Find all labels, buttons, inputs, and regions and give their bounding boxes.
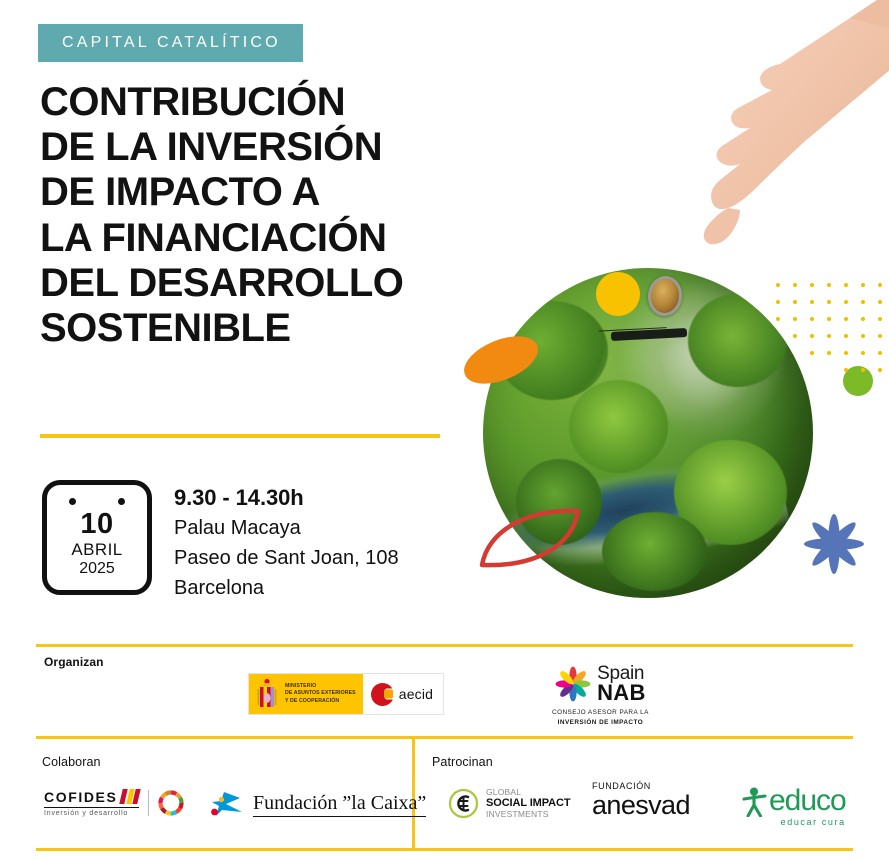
yellow-dot-grid-decoration — [776, 283, 882, 378]
gsi-mark-icon — [448, 788, 479, 819]
organizan-label: Organizan — [44, 655, 104, 669]
event-time: 9.30 - 14.30h — [174, 482, 399, 513]
globe-piggy-bank-image — [483, 268, 813, 598]
calendar-hole-icon — [118, 498, 125, 505]
spain-nab-flower-icon — [555, 666, 591, 702]
title-underline-rule — [40, 434, 440, 438]
globe-canopy — [674, 440, 786, 546]
venue-city: Barcelona — [174, 573, 399, 603]
cofides-word: COFIDES — [44, 790, 117, 804]
fundacion-la-caixa-logo: Fundación ”la Caixa” — [210, 790, 426, 818]
globe-river — [499, 425, 798, 598]
global-social-impact-logo: GLOBAL SOCIAL IMPACT INVESTMENTS — [448, 788, 570, 819]
divider-rule — [36, 736, 853, 739]
sdg-wheel-icon — [158, 790, 184, 816]
venue-info: 9.30 - 14.30h Palau Macaya Paseo de Sant… — [174, 480, 399, 603]
hand-dropping-coin-image — [654, 0, 889, 292]
gsi-wordmark: GLOBAL SOCIAL IMPACT INVESTMENTS — [486, 788, 570, 819]
title-line: DE IMPACTO A — [40, 170, 510, 215]
educo-wordmark: educo — [769, 786, 846, 816]
patrocinan-label: Patrocinan — [432, 755, 493, 769]
coin-slot-icon — [611, 328, 687, 341]
spain-nab-sub-line-2: INVERSIÓN DE IMPACTO — [552, 718, 649, 728]
title-line: CONTRIBUCIÓN — [40, 80, 510, 125]
gsi-line-1: GLOBAL — [486, 788, 570, 797]
spain-nab-subtitle: CONSEJO ASESOR PARA LA INVERSIÓN DE IMPA… — [552, 708, 649, 727]
ministry-aecid-logo: MINISTERIO DE ASUNTOS EXTERIORES Y DE CO… — [248, 673, 444, 715]
spain-flag-icon — [120, 789, 141, 804]
logo-divider — [148, 790, 149, 816]
divider-rule — [36, 848, 853, 851]
event-details: 10 ABRIL 2025 9.30 - 14.30h Palau Macaya… — [42, 480, 399, 603]
green-circle-decoration — [843, 366, 873, 396]
educo-person-icon — [742, 787, 767, 817]
venue-address: Paseo de Sant Joan, 108 — [174, 543, 399, 573]
euro-coin-icon — [646, 274, 684, 317]
ministry-line-1: MINISTERIO — [285, 683, 316, 689]
ministry-logo: MINISTERIO DE ASUNTOS EXTERIORES Y DE CO… — [249, 674, 363, 714]
gsi-line-3: INVESTMENTS — [486, 810, 570, 819]
spain-nab-wordmark: Spain NAB — [597, 664, 646, 704]
yellow-circle-decoration — [596, 272, 640, 316]
venue-name: Palau Macaya — [174, 513, 399, 543]
calendar-day: 10 — [80, 510, 113, 540]
globe-highland — [610, 268, 813, 495]
aecid-mark-icon — [371, 683, 394, 706]
ministry-line-2: DE ASUNTOS EXTERIORES — [285, 690, 356, 696]
cofides-wordmark: COFIDES Inversión y desarrollo — [44, 789, 139, 817]
gsi-line-2: SOCIAL IMPACT — [486, 797, 570, 809]
spain-coat-of-arms-icon — [254, 678, 280, 710]
la-caixa-star-icon — [210, 790, 244, 818]
globe-canopy — [569, 380, 668, 472]
spain-nab-nab-text: NAB — [597, 682, 646, 704]
red-leaf-outline-decoration — [478, 507, 582, 569]
educo-logo: educo educar cura — [742, 786, 846, 827]
educo-wordmark-stack: educo educar cura — [769, 786, 846, 827]
colaboran-label: Colaboran — [42, 755, 101, 769]
blue-star-decoration — [789, 498, 879, 590]
fundacion-anesvad-logo: FUNDACIÓN anesvad — [592, 782, 690, 819]
title-line: LA FINANCIACIÓN — [40, 216, 510, 261]
globe-canopy — [516, 459, 602, 545]
capital-catalitico-badge: CAPITAL CATALÍTICO — [38, 24, 303, 62]
calendar-hole-icon — [69, 498, 76, 505]
spain-nab-row: Spain NAB — [555, 664, 646, 704]
globe-canopy — [602, 512, 708, 591]
globe-canopy — [496, 301, 608, 400]
la-caixa-wordmark: Fundación ”la Caixa” — [253, 792, 426, 817]
ministry-line-3: Y DE COOPERACIÓN — [285, 698, 339, 704]
calendar-month: ABRIL — [71, 540, 122, 560]
calendar-year: 2025 — [79, 559, 115, 578]
educo-tagline: educar cura — [769, 818, 846, 827]
title-line: SOSTENIBLE — [40, 306, 510, 351]
page-title: CONTRIBUCIÓN DE LA INVERSIÓN DE IMPACTO … — [40, 80, 510, 351]
spain-nab-sub-line-1: CONSEJO ASESOR PARA LA — [552, 708, 649, 718]
title-line: DE LA INVERSIÓN — [40, 125, 510, 170]
aecid-logo: aecid — [363, 674, 443, 714]
title-line: DEL DESARROLLO — [40, 261, 510, 306]
anesvad-wordmark: anesvad — [592, 792, 690, 819]
globe-sphere — [483, 268, 813, 598]
calendar-card-icon: 10 ABRIL 2025 — [42, 480, 152, 595]
poster-root: CAPITAL CATALÍTICO CONTRIBUCIÓN DE LA IN… — [0, 0, 889, 859]
spain-nab-logo: Spain NAB CONSEJO ASESOR PARA LA INVERSI… — [552, 664, 649, 727]
cofides-logo: COFIDES Inversión y desarrollo — [44, 789, 184, 817]
globe-canopy — [688, 294, 787, 386]
divider-rule — [36, 644, 853, 647]
aecid-wordmark: aecid — [399, 686, 433, 702]
cofides-tagline: Inversión y desarrollo — [44, 810, 139, 817]
cofides-rule — [44, 807, 139, 809]
ministry-text: MINISTERIO DE ASUNTOS EXTERIORES Y DE CO… — [285, 683, 356, 705]
